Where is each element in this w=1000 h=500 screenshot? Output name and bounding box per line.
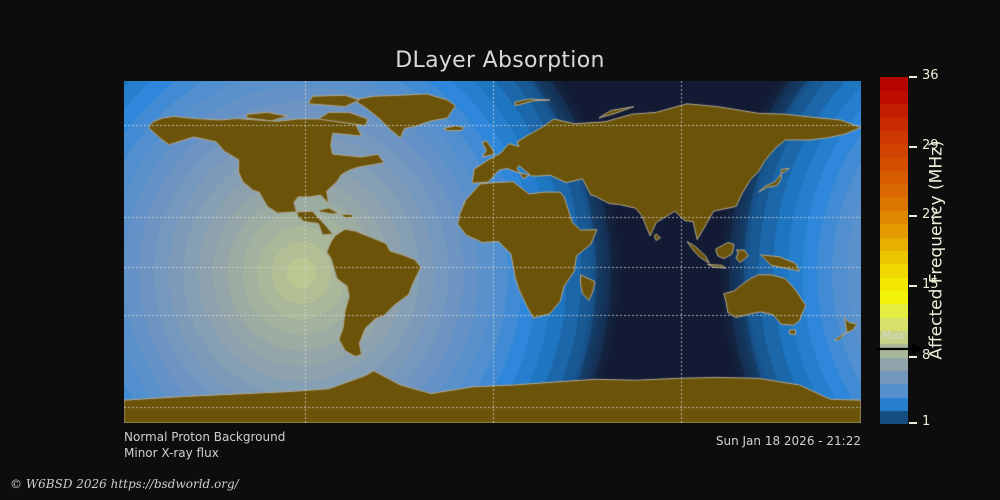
page-title: DLayer Absorption [0, 48, 1000, 73]
tick-dash [909, 76, 917, 78]
xray-status: Minor X-ray flux [124, 445, 285, 461]
colorbar-axis-label-text: Affected Frequency (MHz) [927, 140, 947, 359]
colorbar-gradient [880, 77, 908, 424]
status-block: Normal Proton Background Minor X-ray flu… [124, 429, 285, 461]
max-marker: Max [862, 330, 926, 358]
colorbar-axis-label: Affected Frequency (MHz) [922, 0, 952, 500]
footer-credit: © W6BSD 2026 https://bsdworld.org/ [10, 477, 239, 491]
proton-status: Normal Proton Background [124, 429, 285, 445]
dlayer-absorption-screen: DLayer Absorption 3629221581 Max Affecte… [0, 0, 1000, 500]
timestamp: Sun Jan 18 2026 - 21:22 [600, 433, 861, 449]
map-canvas [124, 81, 861, 423]
tick-dash [909, 285, 917, 287]
arrow-right-icon [876, 342, 924, 356]
tick-dash [909, 215, 917, 217]
colorbar: 3629221581 Max [880, 77, 908, 424]
tick-dash [909, 422, 917, 424]
max-marker-label: Max [882, 330, 905, 342]
world-map[interactable] [124, 81, 861, 423]
tick-dash [909, 146, 917, 148]
